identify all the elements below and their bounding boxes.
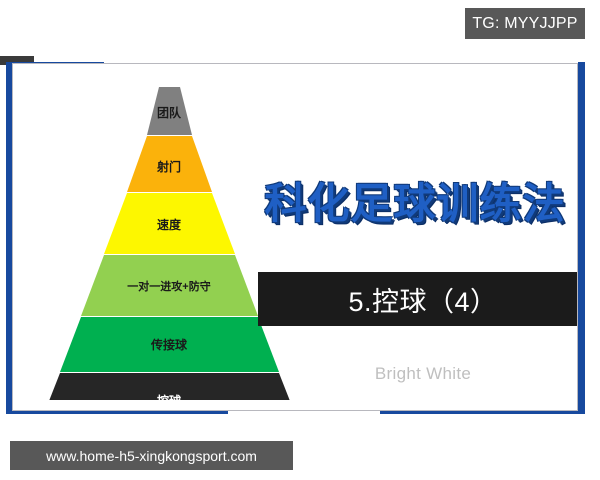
slide-title: 科化足球训练法 [235, 182, 578, 226]
pyramid-level-3-label: 速度 [157, 217, 182, 232]
bracket-right-vertical [578, 62, 585, 414]
tg-watermark-badge: TG: MYYJJPP [465, 8, 585, 39]
subtitle-text: 5.控球（4） [348, 280, 497, 319]
pyramid-diagram: 团队 射门 速度 一对一进攻+防守 传接球 控球 [13, 80, 333, 400]
pyramid-level-6-label: 控球 [157, 393, 182, 400]
pyramid-level-1-label: 团队 [157, 105, 182, 120]
tg-watermark-text: TG: MYYJJPP [472, 15, 577, 33]
pyramid-level-5-label: 传接球 [150, 337, 188, 352]
slide-card: 团队 射门 速度 一对一进攻+防守 传接球 控球 科化足球训练法 5.控球（4）… [12, 63, 578, 411]
url-watermark-text: www.home-h5-xingkongsport.com [46, 448, 257, 464]
subtitle-banner: 5.控球（4） [258, 272, 578, 326]
pyramid-level-2-label: 射门 [156, 159, 181, 174]
pyramid-level-4-label: 一对一进攻+防守 [127, 279, 210, 293]
url-watermark-bar: www.home-h5-xingkongsport.com [10, 441, 293, 470]
caption-text: Bright White [258, 364, 578, 384]
